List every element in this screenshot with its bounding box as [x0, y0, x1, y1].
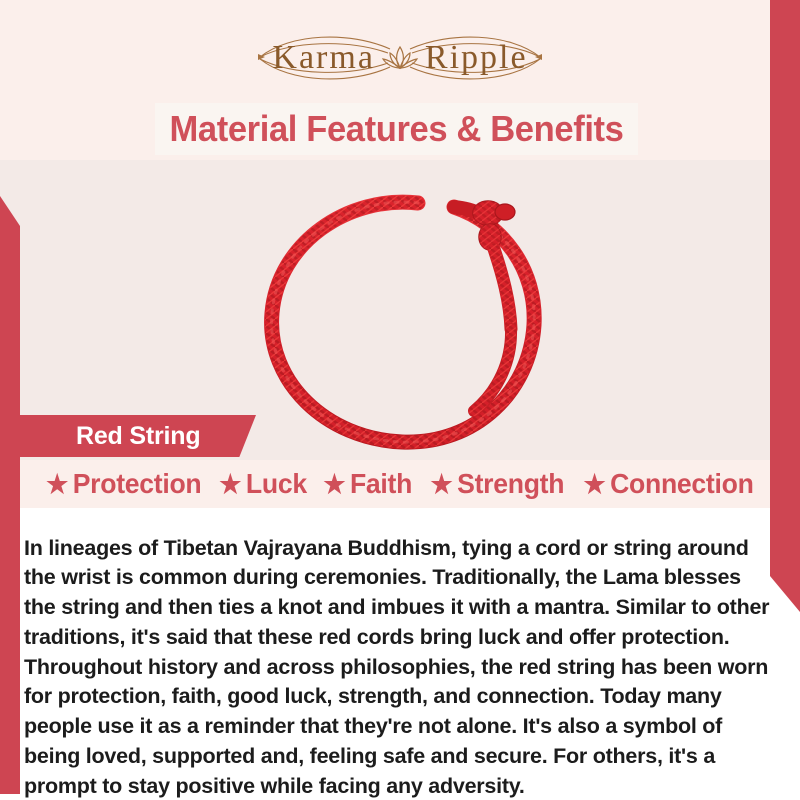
title-banner: Material Features & Benefits [155, 103, 638, 155]
product-image [230, 165, 590, 465]
material-label-text: Red String [18, 422, 200, 451]
benefit-label: Strength [457, 468, 564, 500]
benefit-label: Protection [72, 468, 201, 500]
star-icon: ★ [324, 471, 346, 497]
star-icon: ★ [46, 471, 68, 497]
description-paragraph: In lineages of Tibetan Vajrayana Buddhis… [24, 534, 776, 800]
page-title: Material Features & Benefits [169, 108, 623, 150]
star-icon: ★ [430, 471, 452, 497]
brand-logo: Karma Ripple [0, 26, 800, 90]
brand-word-ripple: Ripple [425, 41, 528, 75]
lotus-icon [381, 43, 419, 73]
benefit-label: Faith [350, 468, 412, 500]
benefit-item-protection: ★ Protection [40, 468, 207, 500]
benefits-list: ★ Protection ★ Luck ★ Faith ★ Strength ★… [20, 462, 780, 506]
material-label-banner: Red String [18, 415, 256, 457]
benefit-item-faith: ★ Faith [318, 468, 418, 500]
infographic-page: Karma Ripple Material Features & Benefit… [0, 0, 800, 800]
benefit-item-luck: ★ Luck [214, 468, 313, 500]
benefit-label: Luck [246, 468, 307, 500]
benefit-label: Connection [610, 468, 753, 500]
right-red-stripe [770, 0, 800, 612]
benefit-item-strength: ★ Strength [424, 468, 569, 500]
brand-word-karma: Karma [272, 41, 375, 75]
left-red-stripe [0, 196, 20, 794]
star-icon: ★ [584, 471, 606, 497]
benefit-item-connection: ★ Connection [578, 468, 759, 500]
star-icon: ★ [219, 471, 241, 497]
